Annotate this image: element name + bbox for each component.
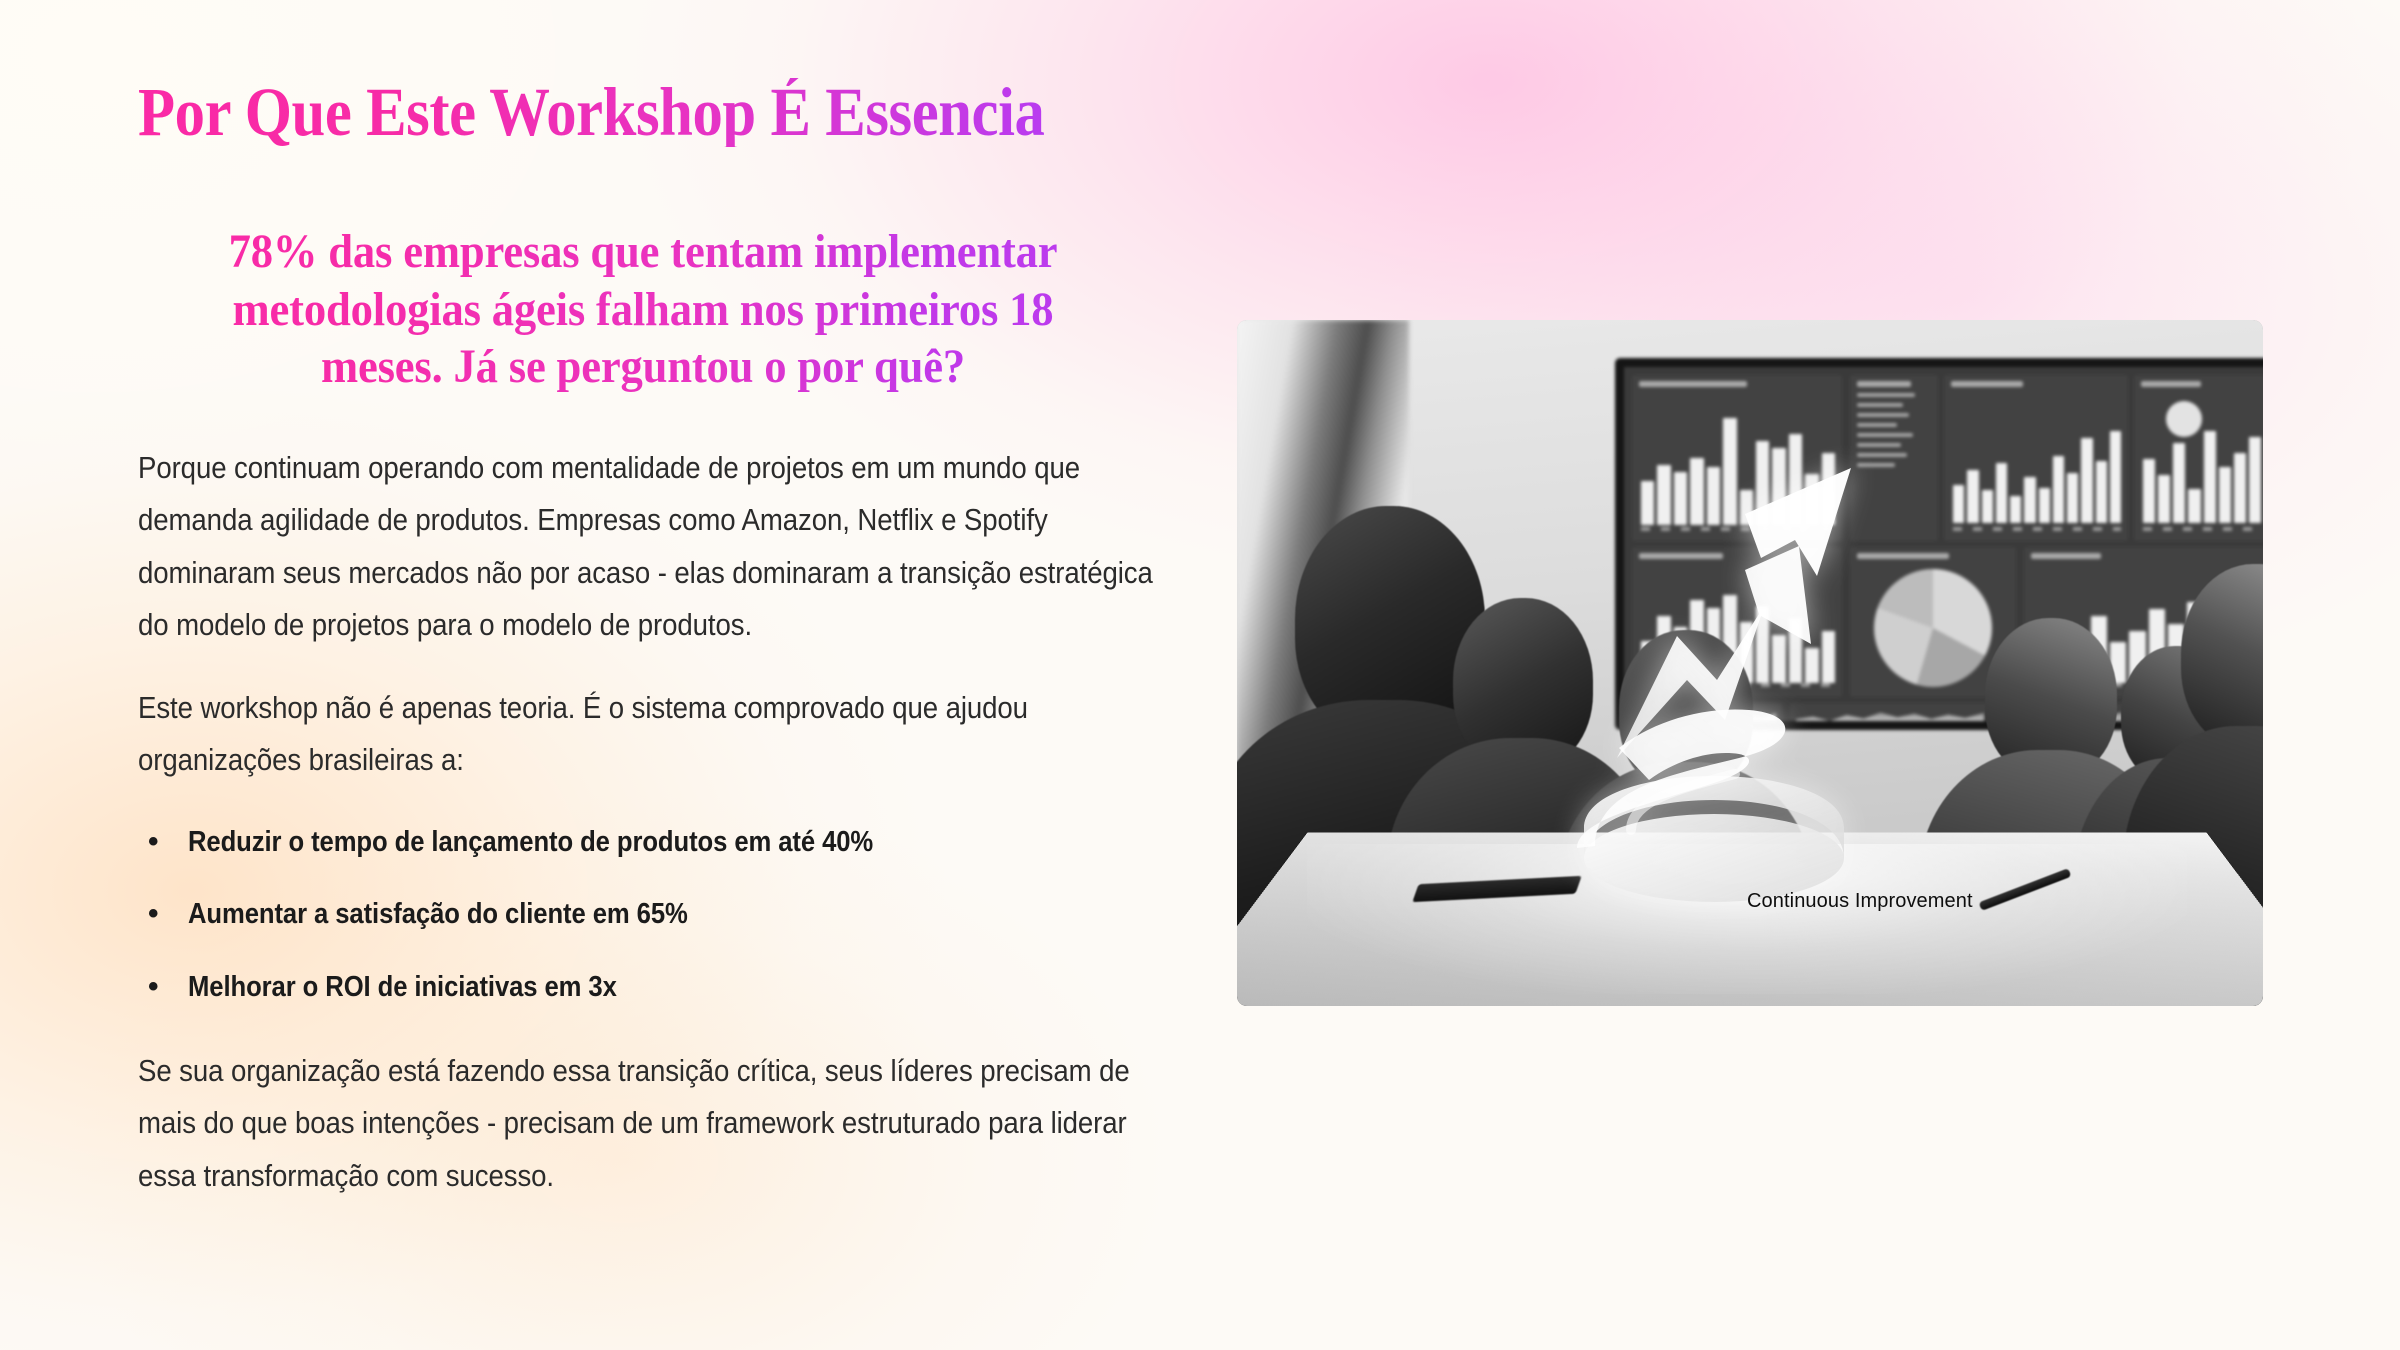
list-item: • Melhorar o ROI de iniciativas em 3x [148,966,1168,1009]
meeting-photo: Continuous Improvement [1237,320,2263,1006]
bullet-marker-icon: • [148,893,188,936]
slide-canvas: Por Que Este Workshop É Essencial 78% da… [0,0,2400,1350]
paragraph-2: Este workshop não é apenas teoria. É o s… [138,682,1163,787]
list-item-label: Melhorar o ROI de iniciativas em 3x [188,966,617,1009]
bullet-marker-icon: • [148,821,188,864]
list-item: • Reduzir o tempo de lançamento de produ… [148,821,1168,864]
list-item-label: Aumentar a satisfação do cliente em 65% [188,893,688,936]
page-title: Por Que Este Workshop É Essencial [138,78,1044,147]
subtitle-statistic: 78% das empresas que tentam implementar … [173,223,1112,396]
body-text-block: Porque continuam operando com mentalidad… [138,442,1168,1202]
growth-arrow-graphic: Continuous Improvement [1499,428,1929,928]
benefits-list: • Reduzir o tempo de lançamento de produ… [138,821,1168,1009]
paragraph-1: Porque continuam operando com mentalidad… [138,442,1163,652]
upward-arrow-icon [1499,428,1929,928]
photo-content: Continuous Improvement [1237,320,2263,1006]
list-item: • Aumentar a satisfação do cliente em 65… [148,893,1168,936]
closing-paragraph: Se sua organização está fazendo essa tra… [138,1045,1163,1202]
continuous-improvement-label: Continuous Improvement [1747,890,1973,913]
bullet-marker-icon: • [148,966,188,1009]
left-content-column: Por Que Este Workshop É Essencial 78% da… [138,78,1168,1202]
list-item-label: Reduzir o tempo de lançamento de produto… [188,821,873,864]
